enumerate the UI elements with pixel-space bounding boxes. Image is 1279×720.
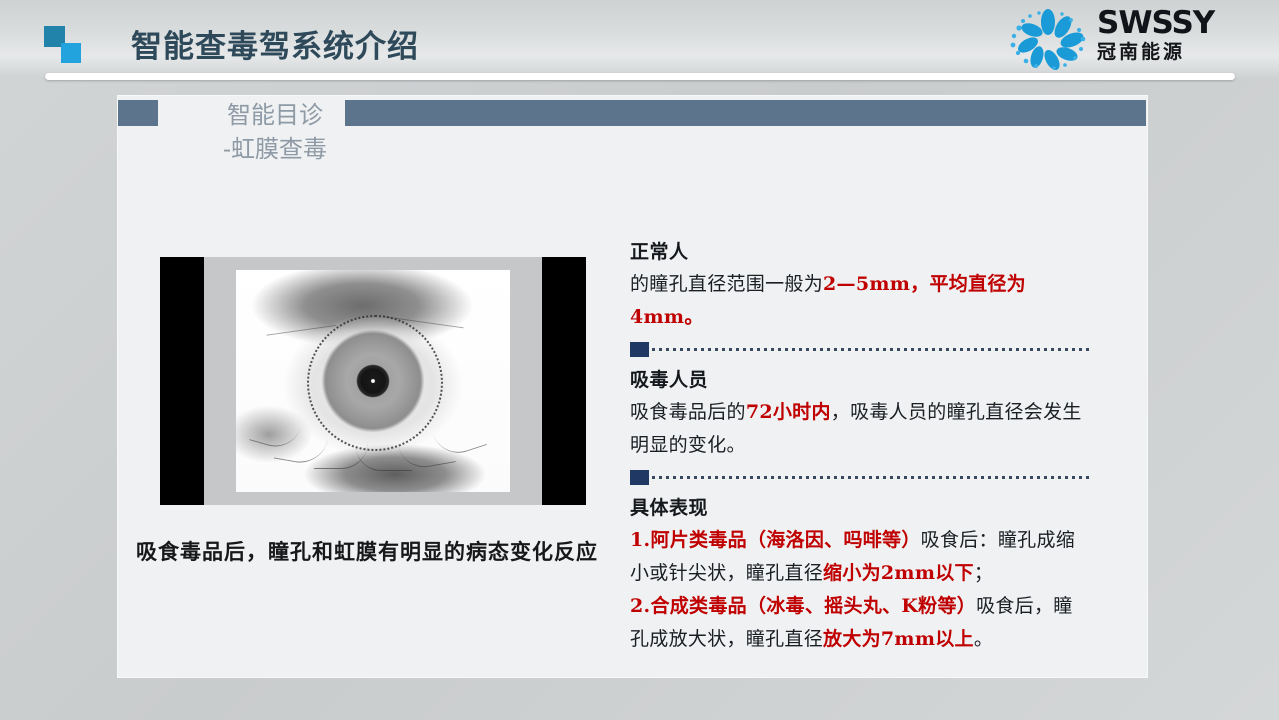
slide-title: 智能目诊 xyxy=(200,98,350,132)
divider-dotted-line xyxy=(652,476,1090,479)
eye-iris-photo xyxy=(160,257,586,505)
section-divider-1 xyxy=(630,340,1090,362)
slide-header-bar-right xyxy=(345,100,1146,126)
two-blue-squares-icon xyxy=(44,26,88,62)
section-body-addict: 吸食毒品后的72小时内，吸毒人员的瞳孔直径会发生明显的变化。 xyxy=(630,396,1090,462)
list-item: 2.合成类毒品（冰毒、摇头丸、K粉等）吸食后，瞳孔成放大状，瞳孔直径放大为7mm… xyxy=(630,590,1090,656)
logo-brand-chinese: 冠南能源 xyxy=(1097,40,1257,64)
company-logo: SWSSY 冠南能源 xyxy=(1005,6,1257,72)
divider-square-icon xyxy=(630,342,649,357)
list-item: 1.阿片类毒品（海洛因、吗啡等）吸食后：瞳孔成缩小或针尖状，瞳孔直径缩小为2mm… xyxy=(630,524,1090,590)
eye-photograph xyxy=(236,270,510,492)
section-heading-normal: 正常人 xyxy=(630,238,1090,266)
list-number: 1. xyxy=(630,529,650,551)
divider-dotted-line xyxy=(652,348,1090,351)
divider-square-icon xyxy=(630,470,649,485)
letterbox-bar-right xyxy=(542,257,586,505)
page-title: 智能查毒驾系统介绍 xyxy=(131,21,419,66)
top-banner: 智能查毒驾系统介绍 xyxy=(0,0,1279,78)
text-emphasis: 缩小为2mm以下 xyxy=(823,562,974,584)
square-light-blue xyxy=(61,43,81,63)
section-body-normal: 的瞳孔直径范围一般为2—5mm，平均直径为4mm。 xyxy=(630,268,1090,334)
photo-frame xyxy=(204,257,542,505)
water-droplet-flower-logo-icon xyxy=(1005,8,1091,70)
text-plain: 吸食毒品后的 xyxy=(630,401,746,423)
text-plain: 。 xyxy=(974,628,993,650)
text-column: 正常人 的瞳孔直径范围一般为2—5mm，平均直径为4mm。 吸毒人员 吸食毒品后… xyxy=(630,238,1090,656)
slide-header-bar-left xyxy=(118,100,158,126)
slide-content-panel: 智能目诊 -虹膜查毒 吸食毒品后，瞳孔和虹膜有明显的病态变化反应 正常人 的瞳孔… xyxy=(118,96,1147,677)
text-emphasis: 放大为7mm以上 xyxy=(823,628,974,650)
slide-subtitle: -虹膜查毒 xyxy=(190,132,360,166)
section-heading-addict: 吸毒人员 xyxy=(630,366,1090,394)
logo-brand-latin: SWSSY xyxy=(1097,6,1257,40)
logo-text-block: SWSSY 冠南能源 xyxy=(1097,6,1257,70)
iris-boundary-overlay xyxy=(307,315,443,451)
section-heading-detail: 具体表现 xyxy=(630,494,1090,522)
text-emphasis: 阿片类毒品（海洛因、吗啡等） xyxy=(650,529,920,551)
text-plain: ； xyxy=(974,562,993,584)
list-number: 2. xyxy=(630,595,650,617)
text-plain: 的瞳孔直径范围一般为 xyxy=(630,273,823,295)
section-divider-2 xyxy=(630,468,1090,490)
text-emphasis: 72小时内 xyxy=(746,401,831,423)
letterbox-bar-left xyxy=(160,257,204,505)
text-emphasis: 合成类毒品（冰毒、摇头丸、K粉等） xyxy=(650,595,976,617)
figure-caption: 吸食毒品后，瞳孔和虹膜有明显的病态变化反应 xyxy=(136,536,636,566)
banner-divider-rule xyxy=(45,73,1235,80)
